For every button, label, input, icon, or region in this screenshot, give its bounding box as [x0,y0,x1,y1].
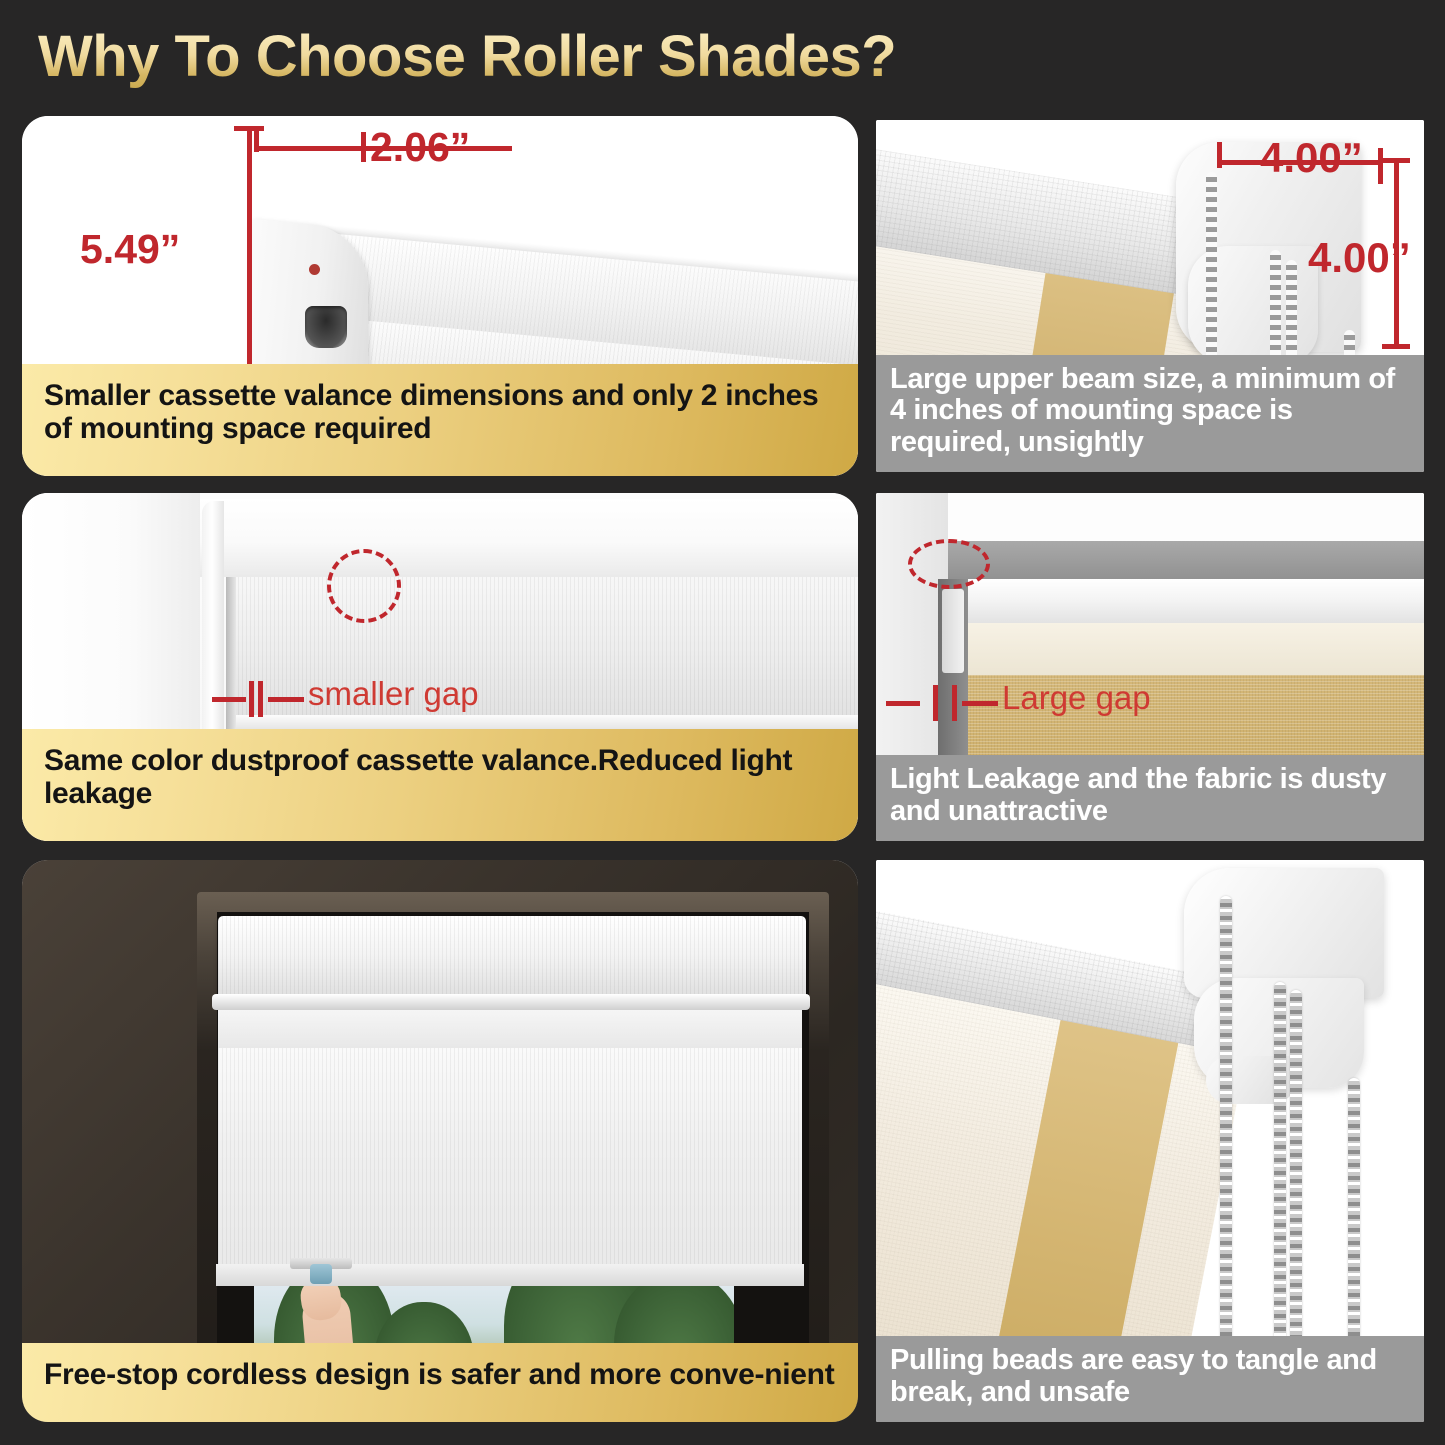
panel-4-caption: Light Leakage and the fabric is dusty an… [876,755,1424,841]
panel-free-stop-cordless: Free-stop cordless design is safer and m… [22,860,858,1422]
panel-1-caption: Smaller cassette valance dimensions and … [22,364,858,476]
bead-chain [1274,982,1286,1394]
panel-6-caption: Pulling beads are easy to tangle and bre… [876,1336,1424,1422]
dimension-label-height: 5.49” [80,226,180,273]
page-header: Why To Choose Roller Shades? [0,0,1445,112]
panel-2-caption: Large upper beam size, a minimum of 4 in… [876,355,1424,472]
gap-highlight-circle [908,539,990,589]
valance-slot [305,306,347,348]
panel-5-image [22,860,858,1422]
dimension-label-beam-height: 4.00” [1308,234,1411,282]
panel-pulling-beads: Pulling beads are easy to tangle and bre… [876,860,1424,1422]
panel-smaller-cassette-valance: 2.06” 5.49” Smaller cassette valance dim… [22,116,858,476]
smaller-gap-label: smaller gap [308,675,479,713]
dimension-label-width: 2.06” [370,124,470,171]
large-gap-label: Large gap [1002,679,1151,717]
panel-large-upper-beam: 4.00” 4.00” Large upper beam size, a min… [876,120,1424,472]
panel-light-leakage: Large gap Light Leakage and the fabric i… [876,493,1424,841]
panel-5-caption: Free-stop cordless design is safer and m… [22,1343,858,1422]
dimension-label-beam-width: 4.00” [1260,134,1363,182]
page-title: Why To Choose Roller Shades? [38,23,896,90]
bead-chain [1290,990,1302,1394]
panel-3-caption: Same color dustproof cassette valance.Re… [22,729,858,841]
gap-highlight-circle [327,549,401,623]
bead-chain [1220,896,1232,1394]
panel-dustproof-cassette-valance: smaller gap Same color dustproof cassett… [22,493,858,841]
